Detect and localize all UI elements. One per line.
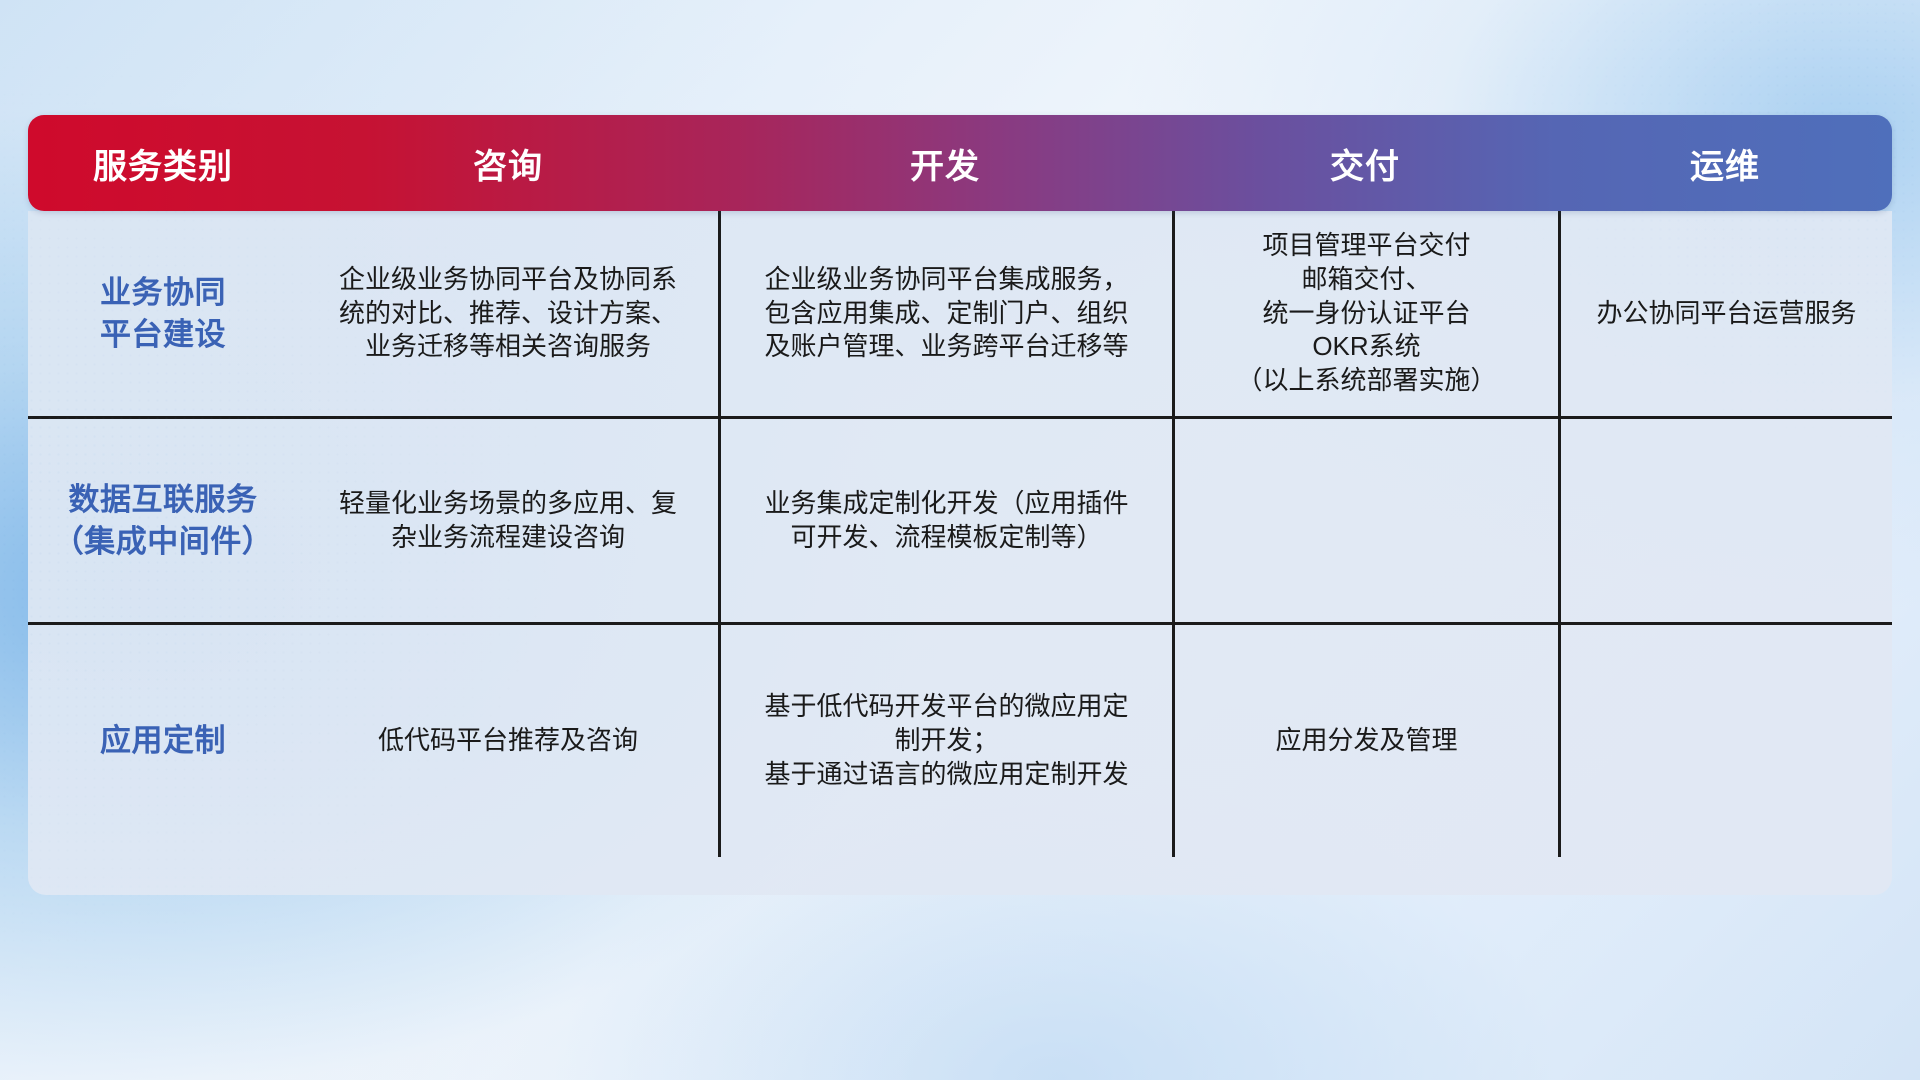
cell-category: 数据互联服务 （集成中间件） bbox=[28, 419, 298, 622]
cell-delivery: 应用分发及管理 bbox=[1172, 625, 1558, 857]
cell-development: 业务集成定制化开发（应用插件 可开发、流程模板定制等） bbox=[718, 419, 1172, 622]
table-header-row: 服务类别 咨询 开发 交付 运维 bbox=[28, 115, 1892, 211]
column-header-delivery: 交付 bbox=[1172, 139, 1558, 188]
cell-delivery: 项目管理平台交付 邮箱交付、 统一身份认证平台 OKR系统 （以上系统部署实施） bbox=[1172, 211, 1558, 416]
cell-consulting: 轻量化业务场景的多应用、复 杂业务流程建设咨询 bbox=[298, 419, 718, 622]
cell-operations: 办公协同平台运营服务 bbox=[1558, 211, 1892, 416]
column-header-category: 服务类别 bbox=[28, 139, 298, 188]
cell-operations bbox=[1558, 419, 1892, 622]
column-header-operations: 运维 bbox=[1558, 139, 1892, 188]
cell-development: 基于低代码开发平台的微应用定 制开发； 基于通过语言的微应用定制开发 bbox=[718, 625, 1172, 857]
service-matrix-table: 服务类别 咨询 开发 交付 运维 业务协同 平台建设 企业级业务协同平台及协同系… bbox=[28, 115, 1892, 895]
cell-consulting: 低代码平台推荐及咨询 bbox=[298, 625, 718, 857]
slide-canvas: 服务类别 咨询 开发 交付 运维 业务协同 平台建设 企业级业务协同平台及协同系… bbox=[0, 0, 1920, 1080]
cell-delivery bbox=[1172, 419, 1558, 622]
column-header-development: 开发 bbox=[718, 139, 1172, 188]
table-row: 数据互联服务 （集成中间件） 轻量化业务场景的多应用、复 杂业务流程建设咨询 业… bbox=[28, 416, 1892, 622]
table-row: 应用定制 低代码平台推荐及咨询 基于低代码开发平台的微应用定 制开发； 基于通过… bbox=[28, 622, 1892, 857]
table-row: 业务协同 平台建设 企业级业务协同平台及协同系 统的对比、推荐、设计方案、 业务… bbox=[28, 211, 1892, 416]
cell-category: 业务协同 平台建设 bbox=[28, 211, 298, 416]
cell-category: 应用定制 bbox=[28, 625, 298, 857]
table-body: 业务协同 平台建设 企业级业务协同平台及协同系 统的对比、推荐、设计方案、 业务… bbox=[28, 211, 1892, 895]
column-header-consulting: 咨询 bbox=[298, 139, 718, 188]
cell-operations bbox=[1558, 625, 1892, 857]
table-bottom-padding bbox=[28, 857, 1892, 895]
cell-development: 企业级业务协同平台集成服务， 包含应用集成、定制门户、组织 及账户管理、业务跨平… bbox=[718, 211, 1172, 416]
cell-consulting: 企业级业务协同平台及协同系 统的对比、推荐、设计方案、 业务迁移等相关咨询服务 bbox=[298, 211, 718, 416]
